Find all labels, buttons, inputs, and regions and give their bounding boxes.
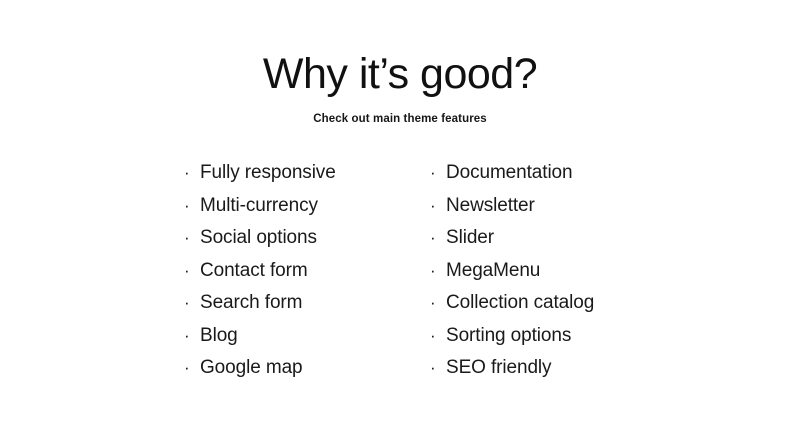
bullet-icon: · [430,287,446,320]
list-item: · Collection catalog [430,287,632,320]
bullet-icon: · [184,287,200,320]
bullet-icon: · [430,222,446,255]
feature-column-left: · Fully responsive · Multi-currency · So… [176,157,404,385]
list-item-label: Fully responsive [200,157,336,190]
bullet-icon: · [184,222,200,255]
list-item-label: Documentation [446,157,573,190]
list-item: · Search form [184,287,404,320]
bullet-icon: · [184,190,200,223]
list-item-label: Slider [446,222,494,255]
list-item: · Google map [184,352,404,385]
list-item: · Blog [184,320,404,353]
list-item-label: Contact form [200,255,308,288]
bullet-icon: · [184,255,200,288]
list-item: · Slider [430,222,632,255]
list-item: · Documentation [430,157,632,190]
list-item-label: Collection catalog [446,287,594,320]
list-item-label: Multi-currency [200,190,318,223]
list-item: · Newsletter [430,190,632,223]
list-item: · Contact form [184,255,404,288]
page-title: Why it’s good? [0,52,800,97]
page-subtitle: Check out main theme features [0,113,800,125]
heading-block: Why it’s good? Check out main theme feat… [0,0,800,125]
bullet-icon: · [430,352,446,385]
features-list: · Fully responsive · Multi-currency · So… [0,157,800,385]
list-item: · Fully responsive [184,157,404,190]
feature-slide: Why it’s good? Check out main theme feat… [0,0,800,446]
list-item-label: Blog [200,320,238,353]
list-item-label: Search form [200,287,302,320]
bullet-icon: · [430,190,446,223]
list-item: · MegaMenu [430,255,632,288]
feature-column-right: · Documentation · Newsletter · Slider · … [404,157,632,385]
list-item-label: Google map [200,352,303,385]
list-item: · Social options [184,222,404,255]
bullet-icon: · [430,157,446,190]
list-item: · Sorting options [430,320,632,353]
list-item-label: Newsletter [446,190,535,223]
list-item-label: Sorting options [446,320,571,353]
bullet-icon: · [430,255,446,288]
list-item-label: Social options [200,222,317,255]
list-item: · Multi-currency [184,190,404,223]
list-item: · SEO friendly [430,352,632,385]
bullet-icon: · [430,320,446,353]
list-item-label: SEO friendly [446,352,551,385]
bullet-icon: · [184,320,200,353]
bullet-icon: · [184,352,200,385]
list-item-label: MegaMenu [446,255,540,288]
bullet-icon: · [184,157,200,190]
